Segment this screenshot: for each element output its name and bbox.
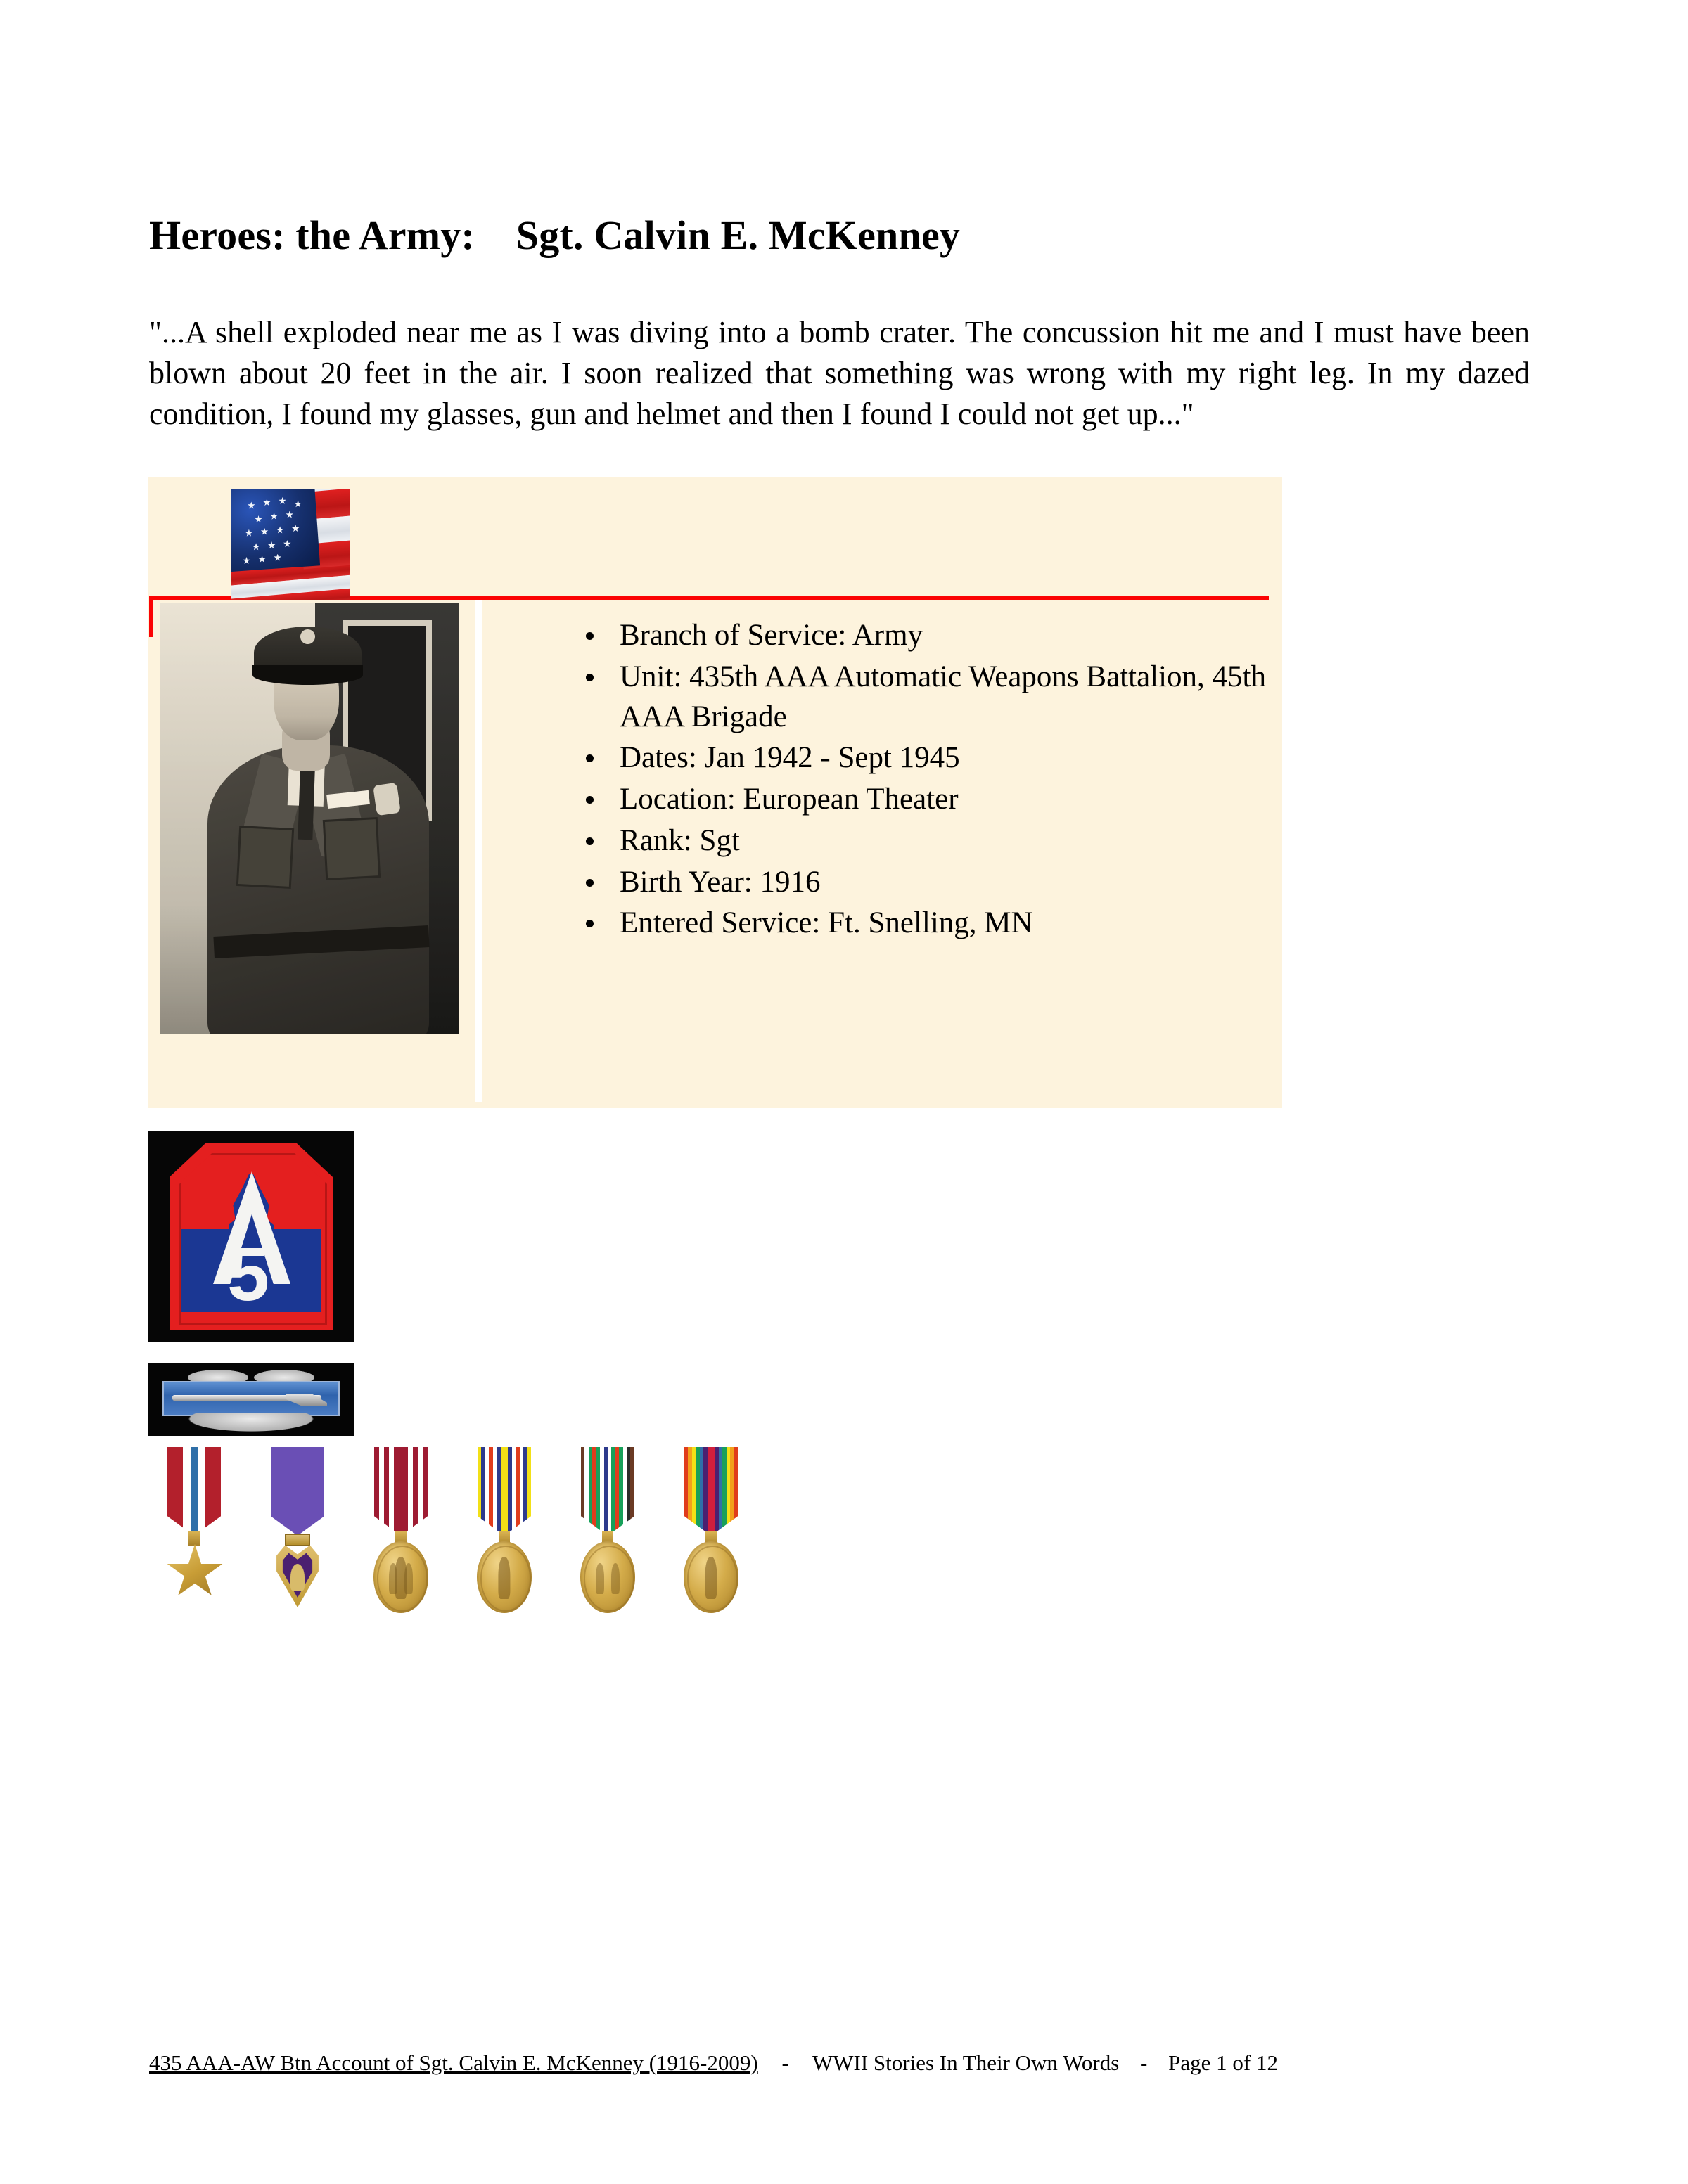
eame-campaign-medal-icon	[574, 1447, 641, 1637]
good-conduct-medal-icon	[367, 1447, 435, 1637]
veteran-info-card: Calvin E. McKenney	[148, 477, 1282, 1108]
page-footer: 435 AAA-AW Btn Account of Sgt. Calvin E.…	[149, 2050, 1542, 2076]
list-item: Location: European Theater	[577, 780, 1277, 820]
list-item: Dates: Jan 1942 - Sept 1945	[577, 738, 1277, 778]
medals-row	[160, 1447, 793, 1637]
document-page: Heroes: the Army: Sgt. Calvin E. McKenne…	[0, 0, 1688, 2184]
purple-heart-medal-icon	[264, 1447, 331, 1637]
wwii-victory-medal-icon	[677, 1447, 745, 1637]
footer-separator: -	[763, 2050, 807, 2076]
combat-infantryman-badge-icon	[148, 1363, 354, 1436]
facts-cell: Branch of Service: Army Unit: 435th AAA …	[482, 600, 1277, 1102]
bronze-star-medal-icon	[160, 1447, 228, 1637]
footer-separator-2: -	[1125, 2050, 1163, 2076]
portrait-cell	[153, 600, 482, 1102]
patch-number-5: 5	[227, 1236, 269, 1312]
pull-quote: "...A shell exploded near me as I was di…	[149, 312, 1530, 435]
footer-page-number: Page 1 of 12	[1168, 2050, 1278, 2075]
page-title: Heroes: the Army: Sgt. Calvin E. McKenne…	[149, 212, 960, 259]
footer-account: 435 AAA-AW Btn Account of Sgt. Calvin E.…	[149, 2050, 758, 2075]
veteran-portrait-image	[160, 603, 459, 1034]
list-item: Birth Year: 1916	[577, 863, 1277, 903]
service-facts-list: Branch of Service: Army Unit: 435th AAA …	[577, 616, 1277, 945]
american-campaign-medal-icon	[471, 1447, 538, 1637]
footer-series: WWII Stories In Their Own Words	[812, 2050, 1119, 2075]
list-item: Unit: 435th AAA Automatic Weapons Battal…	[577, 657, 1277, 738]
fifth-army-patch-icon: 5	[148, 1131, 354, 1342]
list-item: Rank: Sgt	[577, 821, 1277, 861]
list-item: Branch of Service: Army	[577, 616, 1277, 656]
list-item: Entered Service: Ft. Snelling, MN	[577, 904, 1277, 944]
